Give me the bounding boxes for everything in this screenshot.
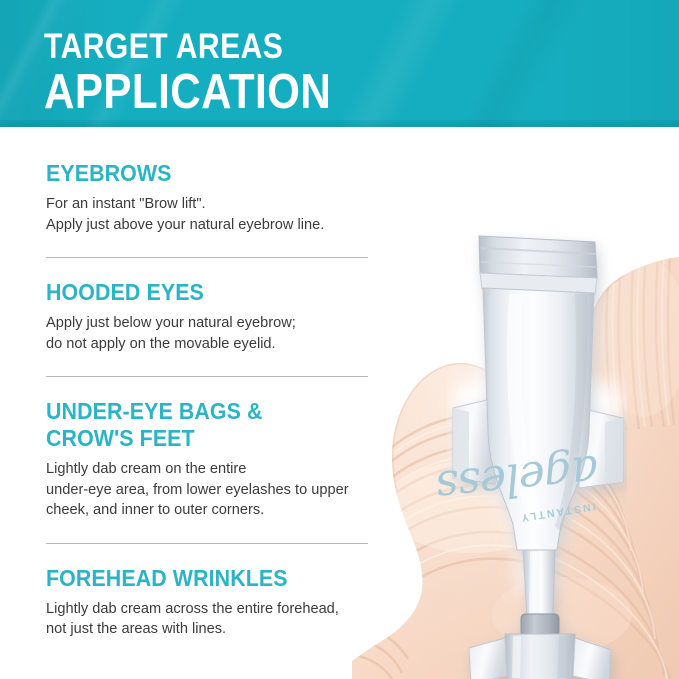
- target-areas-list: EYEBROWS For an instant "Brow lift". App…: [46, 160, 376, 640]
- section-heading-hooded-eyes: HOODED EYES: [46, 279, 353, 306]
- section-hooded-eyes: HOODED EYES Apply just below your natura…: [46, 279, 376, 354]
- spacer: [46, 521, 376, 543]
- body-line: do not apply on the movable eyelid.: [46, 334, 376, 355]
- product-image: INSTANTLY ageless: [352, 127, 679, 679]
- spacer: [46, 354, 376, 376]
- spacer: [46, 544, 376, 565]
- header-bottom-band: [0, 120, 679, 127]
- section-body-forehead-wrinkles: Lightly dab cream across the entire fore…: [46, 599, 376, 640]
- spacer: [46, 258, 376, 279]
- section-body-under-eye-bags: Lightly dab cream on the entire under-ey…: [46, 459, 376, 521]
- body-line: Lightly dab cream across the entire fore…: [46, 599, 376, 620]
- tube-geometry: [453, 236, 623, 679]
- section-heading-forehead-wrinkles: FOREHEAD WRINKLES: [46, 565, 353, 592]
- section-forehead-wrinkles: FOREHEAD WRINKLES Lightly dab cream acro…: [46, 565, 376, 640]
- section-body-hooded-eyes: Apply just below your natural eyebrow; d…: [46, 313, 376, 354]
- section-heading-eyebrows: EYEBROWS: [46, 160, 353, 187]
- body-line: For an instant "Brow lift".: [46, 194, 376, 215]
- body-line: cheek, and inner to outer corners.: [46, 500, 376, 521]
- spacer: [46, 235, 376, 257]
- page-header: TARGET AREAS APPLICATION: [0, 0, 679, 127]
- header-title-line-1: TARGET AREAS: [44, 28, 331, 65]
- section-heading-under-eye-bags: UNDER-EYE BAGS &: [46, 398, 353, 425]
- section-body-eyebrows: For an instant "Brow lift". Apply just a…: [46, 194, 376, 235]
- header-titles: TARGET AREAS APPLICATION: [44, 28, 378, 118]
- section-under-eye-bags-crows-feet: UNDER-EYE BAGS & CROW'S FEET Lightly dab…: [46, 398, 376, 521]
- header-title-line-2: APPLICATION: [44, 66, 331, 118]
- product-tube: INSTANTLY ageless: [447, 232, 627, 679]
- body-line: under-eye area, from lower eyelashes to …: [46, 480, 376, 501]
- section-heading-crows-feet: CROW'S FEET: [46, 425, 353, 452]
- infographic-page: TARGET AREAS APPLICATION: [0, 0, 679, 679]
- body-line: Apply just above your natural eyebrow li…: [46, 215, 376, 236]
- spacer: [46, 377, 376, 398]
- product-tube-svg: [447, 232, 627, 679]
- body-line: Lightly dab cream on the entire: [46, 459, 376, 480]
- section-eyebrows: EYEBROWS For an instant "Brow lift". App…: [46, 160, 376, 235]
- body-line: not just the areas with lines.: [46, 619, 376, 640]
- body-line: Apply just below your natural eyebrow;: [46, 313, 376, 334]
